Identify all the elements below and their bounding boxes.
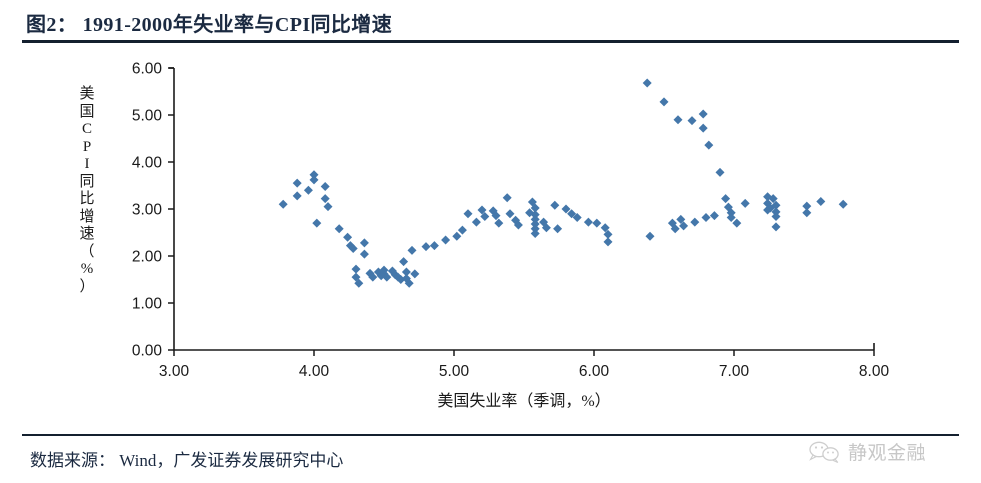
- scatter-point: [335, 224, 344, 233]
- scatter-chart-svg: 0.001.002.003.004.005.006.003.004.005.00…: [0, 0, 981, 483]
- scatter-point: [772, 212, 781, 221]
- scatter-point: [727, 213, 736, 222]
- watermark: 静观金融: [806, 438, 926, 465]
- scatter-point: [464, 209, 473, 218]
- scatter-point: [293, 179, 302, 188]
- scatter-point: [360, 250, 369, 259]
- scatter-point: [699, 124, 708, 133]
- y-axis-tick-label: 6.00: [132, 61, 163, 78]
- scatter-point: [494, 219, 503, 228]
- scatter-point: [802, 208, 811, 217]
- x-axis-tick-label: 3.00: [159, 363, 190, 380]
- scatter-point: [688, 116, 697, 125]
- y-axis-title-char: 增: [76, 209, 98, 227]
- scatter-point: [452, 232, 461, 241]
- scatter-point: [279, 200, 288, 209]
- y-axis-title-char: C: [76, 121, 98, 139]
- scatter-point: [839, 200, 848, 209]
- scatter-point: [343, 233, 352, 242]
- x-axis-tick-label: 6.00: [579, 363, 610, 380]
- watermark-text: 静观金融: [848, 438, 926, 465]
- scatter-point: [732, 219, 741, 228]
- scatter-point: [324, 202, 333, 211]
- figure-source: 数据来源： Wind，广发证券发展研究中心: [30, 446, 343, 471]
- y-axis-tick-label: 2.00: [132, 249, 163, 266]
- scatter-point: [704, 141, 713, 150]
- y-axis-title: 美国CPI同比增速（%）: [76, 86, 98, 296]
- y-axis-tick-label: 5.00: [132, 108, 163, 125]
- figure-container: 图2： 1991-2000年失业率与CPI同比增速 0.001.002.003.…: [0, 0, 981, 483]
- scatter-point: [702, 213, 711, 222]
- scatter-point: [304, 186, 313, 195]
- y-axis-title-char: %: [76, 261, 98, 279]
- scatter-point: [410, 269, 419, 278]
- x-axis-tick-label: 4.00: [299, 363, 330, 380]
- scatter-point: [721, 194, 730, 203]
- scatter-point: [321, 194, 330, 203]
- y-axis-tick-label: 1.00: [132, 296, 163, 313]
- y-axis-tick-label: 4.00: [132, 155, 163, 172]
- scatter-point: [458, 226, 467, 235]
- scatter-point: [506, 209, 515, 218]
- scatter-point: [321, 182, 330, 191]
- y-axis-title-char: 比: [76, 191, 98, 209]
- scatter-point: [503, 193, 512, 202]
- scatter-point: [710, 211, 719, 220]
- scatter-point: [408, 246, 417, 255]
- x-axis-title: 美国失业率（季调，%）: [437, 392, 610, 410]
- y-axis-tick-label: 0.00: [132, 343, 163, 360]
- scatter-point: [699, 110, 708, 119]
- y-axis-tick-label: 3.00: [132, 202, 163, 219]
- y-axis-title-char: （: [76, 244, 98, 262]
- y-axis-title-char: I: [76, 156, 98, 174]
- y-axis-title-char: 美: [76, 86, 98, 104]
- scatter-point: [312, 219, 321, 228]
- scatter-point: [816, 197, 825, 206]
- footer-divider: [22, 434, 959, 436]
- chart-plot-area: 0.001.002.003.004.005.006.003.004.005.00…: [0, 0, 981, 483]
- scatter-point: [643, 79, 652, 88]
- scatter-point: [646, 232, 655, 241]
- scatter-point: [690, 218, 699, 227]
- y-axis-title-char: 同: [76, 174, 98, 192]
- scatter-point: [310, 175, 319, 184]
- scatter-point: [352, 265, 361, 274]
- scatter-point: [360, 238, 369, 247]
- y-axis-title-char: P: [76, 139, 98, 157]
- scatter-point: [584, 218, 593, 227]
- scatter-point: [674, 115, 683, 124]
- y-axis-title-char: 国: [76, 104, 98, 122]
- scatter-point: [772, 222, 781, 231]
- x-axis-tick-label: 5.00: [439, 363, 470, 380]
- x-axis-tick-label: 8.00: [859, 363, 890, 380]
- scatter-point: [741, 199, 750, 208]
- y-axis-title-char: 速: [76, 226, 98, 244]
- scatter-point: [604, 237, 613, 246]
- x-axis-tick-label: 7.00: [719, 363, 750, 380]
- scatter-point: [716, 168, 725, 177]
- scatter-point: [399, 257, 408, 266]
- scatter-point: [441, 236, 450, 245]
- wechat-icon: [806, 440, 844, 464]
- scatter-point: [553, 224, 562, 233]
- scatter-point: [293, 191, 302, 200]
- y-axis-title-char: ）: [76, 279, 98, 297]
- scatter-point: [550, 201, 559, 210]
- scatter-point: [531, 229, 540, 238]
- scatter-point: [430, 241, 439, 250]
- scatter-point: [422, 242, 431, 251]
- scatter-series: [279, 79, 848, 288]
- scatter-point: [592, 219, 601, 228]
- scatter-point: [660, 97, 669, 106]
- scatter-point: [472, 218, 481, 227]
